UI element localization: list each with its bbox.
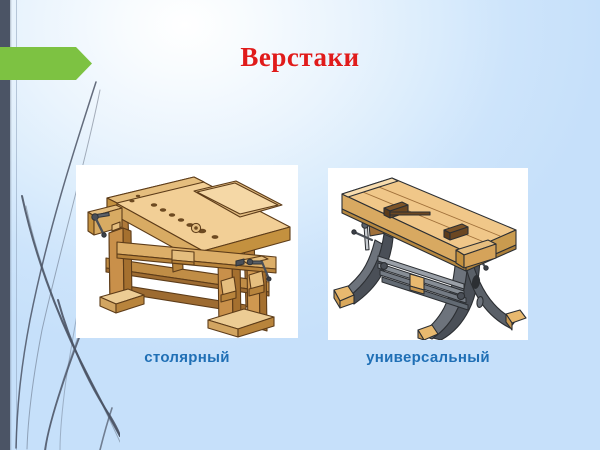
- figure-joiner-workbench: [76, 165, 298, 338]
- figure-universal-workbench: [328, 168, 528, 340]
- joiner-workbench-illustration: [76, 165, 298, 338]
- caption-universal-workbench: универсальный: [328, 349, 528, 366]
- slide-canvas: Верстаки: [0, 0, 600, 450]
- page-title: Верстаки: [0, 42, 600, 73]
- caption-joiner-workbench: столярный: [76, 349, 298, 366]
- universal-workbench-illustration: [328, 168, 528, 340]
